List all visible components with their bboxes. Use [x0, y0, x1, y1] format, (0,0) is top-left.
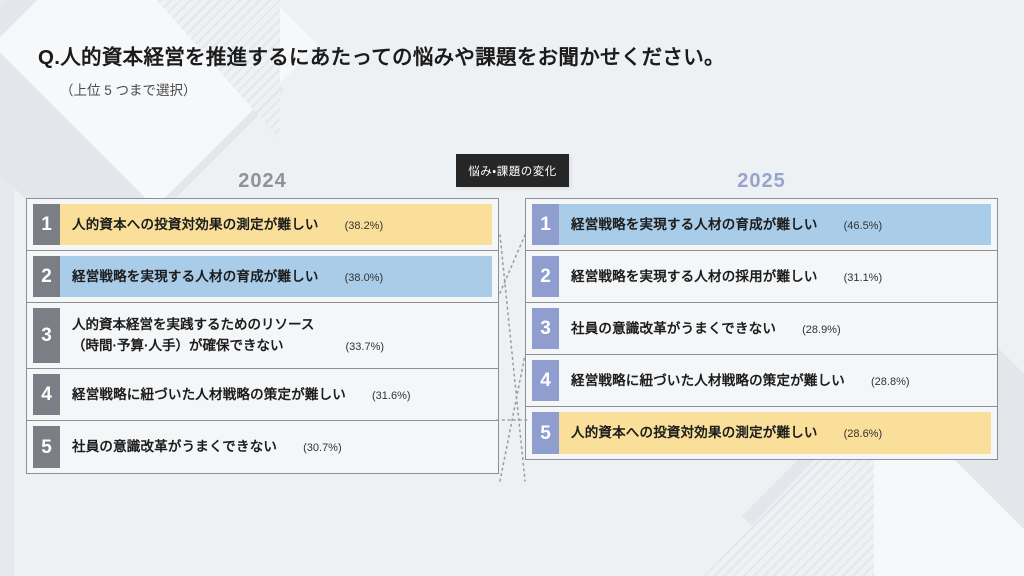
rank-badge: 5	[532, 412, 559, 454]
rank-badge: 1	[33, 204, 60, 245]
page-title: Q.人的資本経営を推進するにあたっての悩みや課題をお聞かせください。	[38, 40, 725, 70]
table-row[interactable]: 4 経営戦略に紐づいた人材戦略の策定が難しい (31.6%)	[27, 369, 498, 421]
table-row[interactable]: 5 社員の意識改革がうまくできない (30.7%)	[27, 421, 498, 473]
table-row[interactable]: 1 経営戦略を実現する人材の育成が難しい (46.5%)	[526, 199, 997, 251]
column-2024: 2024 1 人的資本への投資対効果の測定が難しい (38.2%) 2 経営戦略…	[26, 198, 499, 474]
row-content: 社員の意識改革がうまくできない (30.7%)	[60, 426, 492, 468]
row-percentage: (46.5%)	[844, 220, 883, 232]
column-year-2024: 2024	[26, 170, 499, 193]
table-row[interactable]: 1 人的資本への投資対効果の測定が難しい (38.2%)	[27, 199, 498, 251]
column-2025: 2025 1 経営戦略を実現する人材の育成が難しい (46.5%) 2 経営戦略…	[525, 198, 998, 460]
rank-badge: 4	[532, 360, 559, 401]
slide-header: Q.人的資本経営を推進するにあたっての悩みや課題をお聞かせください。 （上位 5…	[38, 40, 725, 99]
connector-2-to-1	[500, 235, 525, 293]
rank-badge: 3	[33, 308, 60, 363]
row-label: 経営戦略に紐づいた人材戦略の策定が難しい	[72, 385, 346, 405]
row-content: 社員の意識改革がうまくできない (28.9%)	[559, 308, 991, 349]
rank-badge: 4	[33, 374, 60, 415]
row-label: 経営戦略を実現する人材の育成が難しい	[571, 215, 818, 235]
row-label-line1: 人的資本経営を実践するためのリソース	[72, 315, 484, 335]
ranking-list-2025: 1 経営戦略を実現する人材の育成が難しい (46.5%) 2 経営戦略を実現する…	[525, 198, 998, 460]
row-content: 経営戦略を実現する人材の育成が難しい (38.0%)	[60, 256, 492, 297]
row-percentage: (28.6%)	[844, 428, 883, 440]
rank-badge: 2	[33, 256, 60, 297]
row-percentage: (31.1%)	[844, 272, 883, 284]
row-label: 社員の意識改革がうまくできない	[571, 319, 776, 339]
slide-canvas: Q.人的資本経営を推進するにあたっての悩みや課題をお聞かせください。 （上位 5…	[0, 0, 1024, 576]
row-percentage: (33.7%)	[346, 341, 385, 353]
row-percentage: (28.8%)	[871, 376, 910, 388]
row-label: 経営戦略を実現する人材の採用が難しい	[571, 267, 818, 287]
row-content: 経営戦略に紐づいた人材戦略の策定が難しい (31.6%)	[60, 374, 492, 415]
row-content: 経営戦略に紐づいた人材戦略の策定が難しい (28.8%)	[559, 360, 991, 401]
page-subtitle: （上位 5 つまで選択）	[60, 79, 725, 99]
row-percentage: (28.9%)	[802, 324, 841, 336]
table-row[interactable]: 5 人的資本への投資対効果の測定が難しい (28.6%)	[526, 407, 997, 459]
row-percentage: (30.7%)	[303, 442, 342, 454]
row-content: 人的資本経営を実践するためのリソース （時間·予算·人手）が確保できない (33…	[60, 308, 492, 363]
ranking-list-2024: 1 人的資本への投資対効果の測定が難しい (38.2%) 2 経営戦略を実現する…	[26, 198, 499, 474]
row-label: 人的資本への投資対効果の測定が難しい	[72, 215, 319, 235]
row-label: 社員の意識改革がうまくできない	[72, 437, 277, 457]
connector-1-to-5	[500, 235, 525, 481]
rank-badge: 3	[532, 308, 559, 349]
row-percentage: (38.2%)	[345, 220, 384, 232]
column-year-2025: 2025	[525, 170, 998, 193]
row-label-line2: （時間·予算·人手）が確保できない	[72, 336, 284, 356]
table-row[interactable]: 3 人的資本経営を実践するためのリソース （時間·予算·人手）が確保できない (…	[27, 303, 498, 369]
table-row[interactable]: 2 経営戦略を実現する人材の育成が難しい (38.0%)	[27, 251, 498, 303]
rank-badge: 2	[532, 256, 559, 297]
table-row[interactable]: 3 社員の意識改革がうまくできない (28.9%)	[526, 303, 997, 355]
table-row[interactable]: 4 経営戦略に紐づいた人材戦略の策定が難しい (28.8%)	[526, 355, 997, 407]
row-percentage: (38.0%)	[345, 272, 384, 284]
decor-left-edge	[0, 0, 14, 576]
row-label: 人的資本への投資対効果の測定が難しい	[571, 423, 818, 443]
row-content: 経営戦略を実現する人材の育成が難しい (46.5%)	[559, 204, 991, 245]
row-content: 人的資本への投資対効果の測定が難しい (38.2%)	[60, 204, 492, 245]
connector-5-to-3	[500, 355, 525, 481]
center-change-badge: 悩み・課題の変化	[456, 154, 569, 187]
row-label: 経営戦略を実現する人材の育成が難しい	[72, 267, 319, 287]
row-label: 経営戦略に紐づいた人材戦略の策定が難しい	[571, 371, 845, 391]
row-percentage: (31.6%)	[372, 390, 411, 402]
row-content: 人的資本への投資対効果の測定が難しい (28.6%)	[559, 412, 991, 454]
rank-badge: 5	[33, 426, 60, 468]
rank-badge: 1	[532, 204, 559, 245]
table-row[interactable]: 2 経営戦略を実現する人材の採用が難しい (31.1%)	[526, 251, 997, 303]
row-content: 経営戦略を実現する人材の採用が難しい (31.1%)	[559, 256, 991, 297]
